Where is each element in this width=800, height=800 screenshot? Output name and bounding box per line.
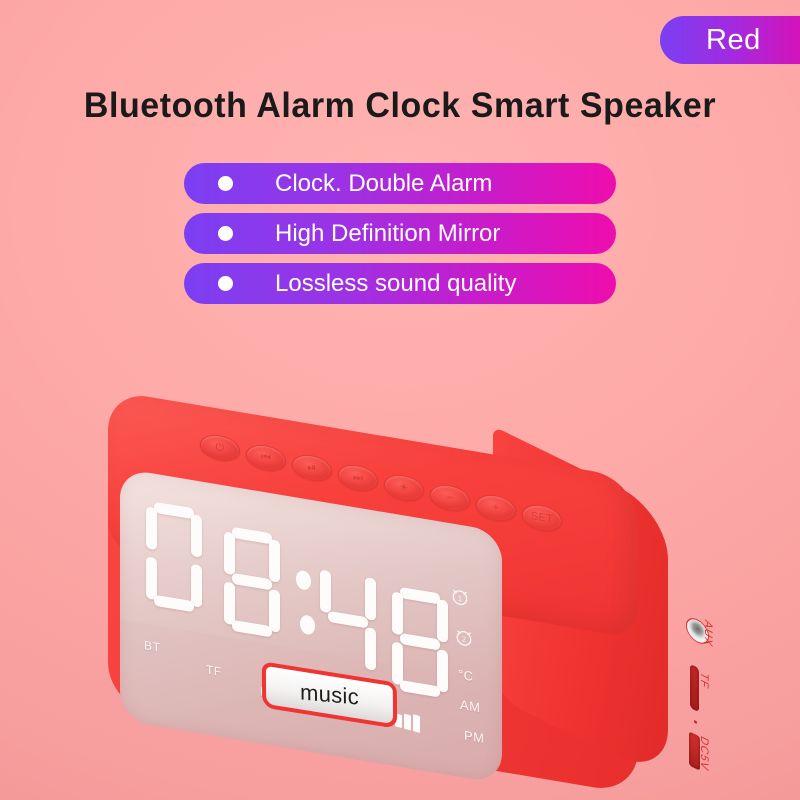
svg-text:2: 2 xyxy=(462,634,466,644)
pm-indicator: PM xyxy=(464,728,484,746)
volume-down-button[interactable]: − xyxy=(430,482,470,513)
alarm-2-icon: 2 xyxy=(454,626,474,649)
color-variant-badge[interactable]: Red xyxy=(660,16,800,64)
next-glyph: ⏭ xyxy=(353,472,363,485)
power-glyph: ⏻ xyxy=(216,442,225,454)
feature-pill-2: High Definition Mirror xyxy=(184,213,616,254)
top-control-buttons: ⏻ ⏮ ⏯ ⏭ ☀ − + SET xyxy=(200,426,670,546)
clock-colon-top xyxy=(296,569,311,591)
product-image: BT TF FM 1 xyxy=(0,330,800,800)
volume-up-button[interactable]: + xyxy=(476,492,516,523)
page-title: Bluetooth Alarm Clock Smart Speaker xyxy=(12,86,788,126)
brightness-glyph: ☀ xyxy=(399,482,409,495)
bullet-dot-icon xyxy=(218,226,233,241)
tf-port-label: TF xyxy=(698,670,710,691)
color-variant-label: Red xyxy=(706,26,761,55)
play-pause-glyph: ⏯ xyxy=(308,462,317,474)
speaker-chassis: BT TF FM 1 xyxy=(108,390,638,690)
reset-pinhole-icon xyxy=(694,720,697,724)
alarm-1-icon: 1 xyxy=(450,585,470,608)
bullet-dot-icon xyxy=(218,176,233,191)
play-pause-button[interactable]: ⏯ xyxy=(292,452,332,483)
power-button[interactable]: ⏻ xyxy=(200,432,240,463)
mode-label-tf: TF xyxy=(206,662,222,679)
side-port-panel: AUX TF DC5V xyxy=(678,600,740,800)
brightness-button[interactable]: ☀ xyxy=(384,472,424,503)
previous-track-button[interactable]: ⏮ xyxy=(246,442,286,473)
aux-port-label: AUX xyxy=(702,618,714,649)
mode-label-bt: BT xyxy=(144,638,161,655)
am-indicator: AM xyxy=(460,697,480,715)
feature-pill-1: Clock. Double Alarm xyxy=(184,163,616,204)
set-glyph: SET xyxy=(531,511,553,526)
svg-text:1: 1 xyxy=(458,594,462,604)
feature-label-3: Lossless sound quality xyxy=(275,272,516,296)
clock-digit-1 xyxy=(146,500,202,613)
clock-digit-4 xyxy=(392,586,448,699)
next-track-button[interactable]: ⏭ xyxy=(338,462,378,493)
volume-up-glyph: + xyxy=(493,502,500,514)
clock-colon-bottom xyxy=(300,614,315,636)
feature-list: Clock. Double Alarm High Definition Mirr… xyxy=(0,163,800,304)
clock-digit-3 xyxy=(320,563,376,676)
temperature-unit-indicator: °C xyxy=(458,667,473,685)
previous-glyph: ⏮ xyxy=(261,452,271,465)
product-poster: Red Bluetooth Alarm Clock Smart Speaker … xyxy=(0,0,800,800)
feature-label-2: High Definition Mirror xyxy=(275,222,500,246)
feature-label-1: Clock. Double Alarm xyxy=(275,172,492,196)
volume-down-glyph: − xyxy=(447,492,454,504)
music-button-label: music xyxy=(300,679,359,710)
bullet-dot-icon xyxy=(218,276,233,291)
set-button[interactable]: SET xyxy=(522,502,562,533)
feature-pill-3: Lossless sound quality xyxy=(184,263,616,304)
dc-port-label: DC5V xyxy=(698,734,710,773)
